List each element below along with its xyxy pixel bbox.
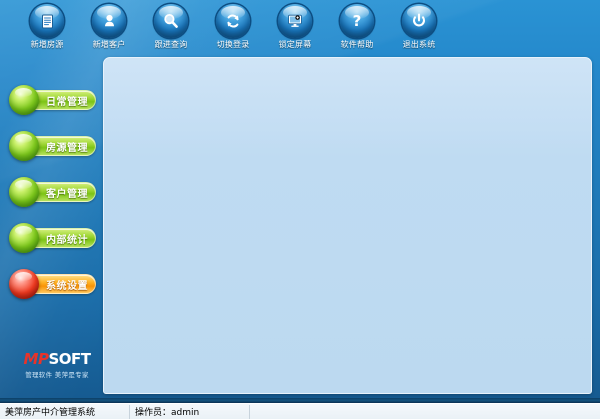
toolbar-button-exit[interactable]: 退出系统	[388, 4, 450, 56]
user-icon	[92, 4, 126, 38]
power-icon	[402, 4, 436, 38]
sidebar-item-label: 内部统计	[46, 231, 88, 246]
toolbar-button-followup-query[interactable]: 跟进查询	[140, 4, 202, 56]
main-toolbar: 新增房源 新增客户 跟进查询	[0, 0, 600, 57]
toolbar-button-add-customer[interactable]: 新增客户	[78, 4, 140, 56]
sidebar-item-label: 系统设置	[46, 277, 88, 292]
sphere-icon	[9, 177, 39, 207]
sidebar-item-customer-management[interactable]: 客户管理	[4, 175, 99, 209]
sidebar-navigation: 日常管理 房源管理 客户管理 内部统计 系统设置	[0, 57, 103, 397]
content-panel	[103, 57, 592, 394]
search-icon	[154, 4, 188, 38]
sphere-icon	[9, 131, 39, 161]
toolbar-button-lock-screen[interactable]: 锁定屏幕	[264, 4, 326, 56]
lock-screen-icon	[278, 4, 312, 38]
sphere-icon	[9, 85, 39, 115]
toolbar-label: 切换登录	[202, 40, 264, 50]
toolbar-button-help[interactable]: ? 软件帮助	[326, 4, 388, 56]
refresh-icon	[216, 4, 250, 38]
logo-name: SOFT	[48, 350, 90, 368]
sidebar-item-label: 房源管理	[46, 139, 88, 154]
toolbar-label: 软件帮助	[326, 40, 388, 50]
sphere-icon	[9, 269, 39, 299]
status-operator: 操作员：admin	[130, 405, 250, 419]
toolbar-label: 跟进查询	[140, 40, 202, 50]
sidebar-item-property-management[interactable]: 房源管理	[4, 129, 99, 163]
svg-text:?: ?	[353, 12, 362, 30]
brand-logo: MPSOFT 管理软件 美萍是专家	[16, 352, 98, 379]
sidebar-item-internal-statistics[interactable]: 内部统计	[4, 221, 99, 255]
sidebar-item-label: 客户管理	[46, 185, 88, 200]
sidebar-item-label: 日常管理	[46, 93, 88, 108]
question-icon: ?	[340, 4, 374, 38]
toolbar-button-switch-login[interactable]: 切换登录	[202, 4, 264, 56]
toolbar-label: 锁定屏幕	[264, 40, 326, 50]
document-icon	[30, 4, 64, 38]
toolbar-label: 新增房源	[16, 40, 78, 50]
logo-mark: MP	[24, 350, 49, 368]
sidebar-item-system-settings[interactable]: 系统设置	[4, 267, 99, 301]
sidebar-item-daily-management[interactable]: 日常管理	[4, 83, 99, 117]
toolbar-button-add-property[interactable]: 新增房源	[16, 4, 78, 56]
logo-wordmark: MPSOFT	[16, 352, 98, 367]
logo-tagline: 管理软件 美萍是专家	[16, 369, 98, 379]
toolbar-label: 退出系统	[388, 40, 450, 50]
status-bar: 美萍房产中介管理系统 操作员：admin	[0, 403, 600, 419]
toolbar-label: 新增客户	[78, 40, 140, 50]
status-spacer	[250, 405, 600, 419]
sphere-icon	[9, 223, 39, 253]
status-app-name: 美萍房产中介管理系统	[0, 405, 130, 419]
application-window: 新增房源 新增客户 跟进查询	[0, 0, 600, 419]
